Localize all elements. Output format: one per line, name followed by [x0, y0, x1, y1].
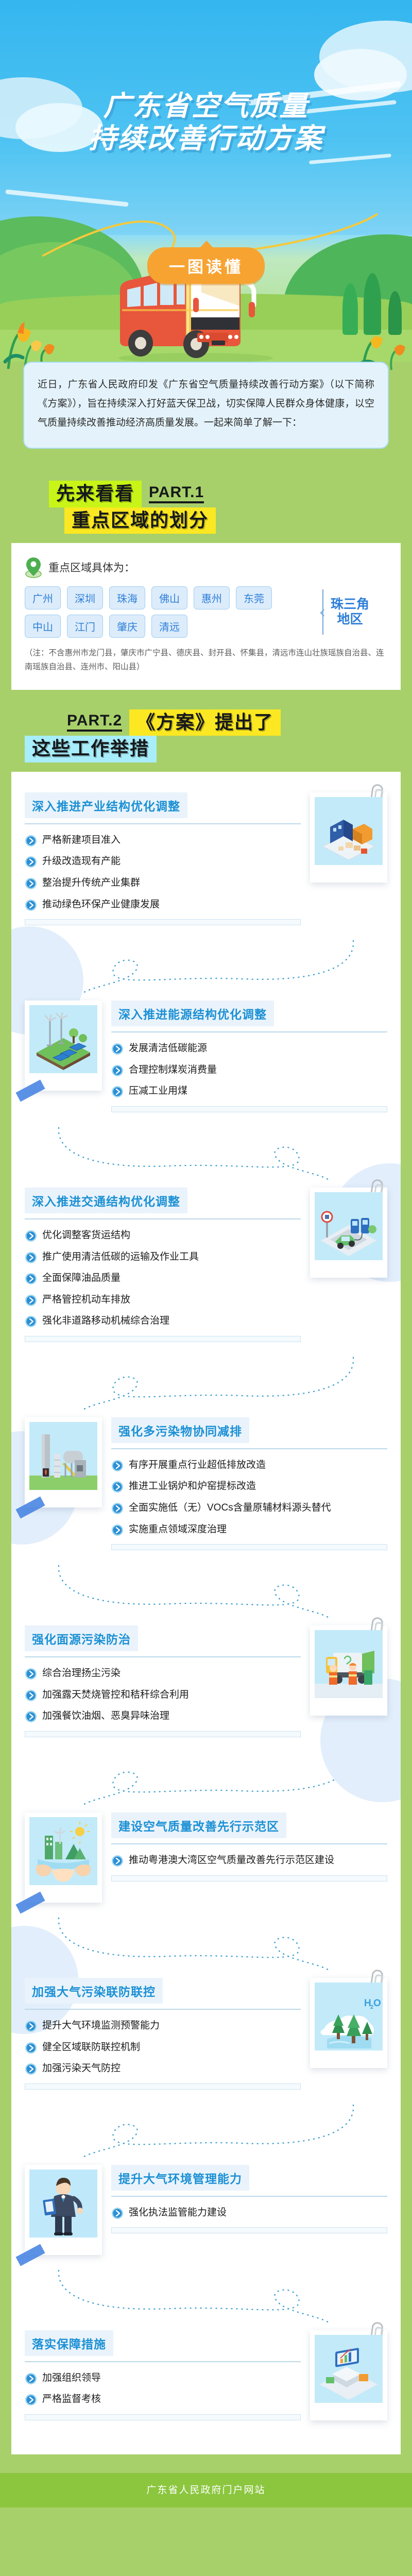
measure-block-photo — [310, 792, 387, 883]
chevron-right-circle-icon — [25, 2042, 37, 2054]
measure-bullet-text: 压减工业用煤 — [129, 1084, 187, 1098]
chevron-right-circle-icon — [111, 1043, 124, 1055]
measure-bullet-text: 强化执法监管能力建设 — [129, 2206, 227, 2220]
measure-bullet: 强化非道路移动机械综合治理 — [25, 1314, 301, 1328]
city-chip-list: 广州深圳珠海佛山惠州东莞中山江门肇庆清远 — [25, 586, 313, 638]
solar-wind-energy-illustration — [29, 1005, 97, 1073]
measure-block-body: 强化多污染物协同减排有序开展重点行业超低排放改造推进工业锅炉和炉窑提标改造全面实… — [111, 1417, 387, 1550]
chevron-right-circle-icon — [25, 2020, 37, 2032]
block-end-bar — [25, 919, 301, 925]
dotted-connector — [46, 1751, 366, 1807]
measure-bullet: 推动粤港澳大湾区空气质量改善先行示范区建设 — [111, 1854, 387, 1868]
part2-heading-row-1: PART.2 《方案》提出了 — [0, 709, 412, 736]
part2-headline-top: 《方案》提出了 — [129, 709, 281, 736]
intro-paragraph: 近日，广东省人民政府印发《广东省空气质量持续改善行动方案》（以下简称《方案》），… — [38, 375, 374, 432]
laptop-growth-chart-illustration — [315, 2335, 383, 2403]
measure-bullet-text: 升级改造现有产能 — [42, 855, 121, 869]
measure-bullet-text: 强化非道路移动机械综合治理 — [42, 1314, 169, 1328]
green-city-in-hands-illustration — [29, 1817, 97, 1885]
city-chip[interactable]: 东莞 — [236, 586, 272, 609]
measure-bullet: 严格监督考核 — [25, 2393, 301, 2406]
chevron-right-circle-icon — [111, 1086, 124, 1098]
city-chip[interactable]: 江门 — [67, 615, 103, 638]
divider — [111, 2196, 387, 2197]
intro-section: 近日，广东省人民政府印发《广东省空气质量持续改善行动方案》（以下简称《方案》），… — [0, 362, 412, 466]
region-name-line1: 珠三角 — [331, 597, 369, 613]
map-pin-icon — [25, 556, 42, 578]
industrial-chimney-illustration — [29, 1422, 97, 1490]
measure-bullet-text: 推动粤港澳大湾区空气质量改善先行示范区建设 — [129, 1854, 334, 1868]
hero-badge: 一图读懂 — [147, 247, 265, 284]
block-end-bar — [25, 1731, 301, 1737]
part1-headline-bottom: 重点区域的划分 — [64, 507, 216, 534]
garbage-truck-workers-illustration — [315, 1630, 383, 1698]
measure-bullet: 严格新建项目准入 — [25, 834, 301, 848]
chevron-right-circle-icon — [25, 2063, 37, 2075]
measure-bullet-text: 加强餐饮油烟、恶臭异味治理 — [42, 1709, 169, 1723]
part1-section: 先来看看 PART.1 重点区域的划分 重点区域具体为： 广州深圳珠海佛山惠州东… — [0, 466, 412, 694]
city-chip[interactable]: 佛山 — [151, 586, 187, 609]
tape-decoration — [15, 1892, 45, 1914]
measure-bullet-text: 推动绿色环保产业健康发展 — [42, 898, 160, 912]
measure-bullet: 发展清洁低碳能源 — [111, 1042, 387, 1056]
measure-bullet-text: 推进工业锅炉和炉窑提标改造 — [129, 1480, 256, 1494]
part1-number: PART.1 — [149, 485, 204, 503]
measure-block-title: 建设空气质量改善先行示范区 — [111, 1812, 286, 1838]
measure-bullet-text: 合理控制煤炭消费量 — [129, 1063, 217, 1077]
block-end-bar — [25, 1336, 301, 1342]
measure-block-title: 加强大气污染联防联控 — [25, 1978, 163, 2004]
measure-bullet: 合理控制煤炭消费量 — [111, 1063, 387, 1077]
measure-block-photo: H2O — [310, 1978, 387, 2068]
hero-title: 广东省空气质量 持续改善行动方案 — [0, 90, 412, 155]
measure-bullet-text: 严格新建项目准入 — [42, 834, 121, 848]
chevron-right-circle-icon — [25, 2372, 37, 2385]
measure-block-title: 深入推进交通结构优化调整 — [25, 1188, 187, 1213]
measure-bullet: 加强污染天气防控 — [25, 2062, 301, 2076]
measure-block-body: 提升大气环境管理能力强化执法监管能力建设 — [111, 2165, 387, 2234]
divider — [111, 1448, 387, 1449]
measure-bullet-text: 严格管控机动车排放 — [42, 1293, 130, 1307]
measure-block: 深入推进交通结构优化调整优化调整客货运结构推广使用清洁低碳的运输及作业工具全面保… — [25, 1182, 387, 1355]
chevron-right-circle-icon — [25, 877, 37, 890]
footer-source: 广东省人民政府门户网站 — [146, 2485, 265, 2496]
chevron-right-circle-icon — [25, 1230, 37, 1242]
measure-bullet: 强化执法监管能力建设 — [111, 2206, 387, 2220]
measure-bullet: 全面实施低（无）VOCs含量原辅材料源头替代 — [111, 1501, 387, 1515]
tape-decoration — [15, 2244, 45, 2266]
measure-bullet: 有序开展重点行业超低排放改造 — [111, 1459, 387, 1472]
measure-bullet-text: 优化调整客货运结构 — [42, 1229, 130, 1243]
region-note: （注：不含惠州市龙门县，肇庆市广宁县、德庆县、封开县、怀集县，清远市连山壮族瑶族… — [25, 646, 387, 674]
measure-block: 提升大气环境管理能力强化执法监管能力建设 — [25, 2160, 387, 2268]
measure-block-body: 建设空气质量改善先行示范区推动粤港澳大湾区空气质量改善先行示范区建设 — [111, 1812, 387, 1882]
city-chip[interactable]: 肇庆 — [109, 615, 145, 638]
divider — [25, 1218, 301, 1219]
measure-bullet: 整治提升传统产业集群 — [25, 876, 301, 890]
measure-bullet-text: 加强污染天气防控 — [42, 2062, 121, 2076]
part2-headline-bottom: 这些工作举措 — [25, 736, 157, 762]
measure-bullet: 优化调整客货运结构 — [25, 1229, 301, 1243]
measure-bullet: 推进工业锅炉和炉窑提标改造 — [111, 1480, 387, 1494]
ev-charging-station-illustration — [315, 1192, 383, 1260]
measure-block-body: 深入推进交通结构优化调整优化调整客货运结构推广使用清洁低碳的运输及作业工具全面保… — [25, 1188, 301, 1342]
region-panel-header: 重点区域具体为： — [25, 556, 387, 578]
block-end-bar — [111, 2227, 387, 2233]
dotted-connector — [46, 1916, 366, 1973]
measure-block-photo — [310, 1188, 387, 1278]
measure-bullet: 加强组织领导 — [25, 2371, 301, 2385]
region-name-line2: 地区 — [331, 612, 369, 628]
measure-bullet-text: 全面保障油品质量 — [42, 1272, 121, 1285]
svg-text:O: O — [373, 1998, 381, 2009]
region-panel: 重点区域具体为： 广州深圳珠海佛山惠州东莞中山江门肇庆清远 珠三角 地区 （注：… — [11, 543, 401, 689]
measure-block-photo — [25, 1812, 102, 1903]
measure-block-photo — [310, 1625, 387, 1716]
measure-bullet: 严格管控机动车排放 — [25, 1293, 301, 1307]
divider — [111, 1031, 387, 1032]
region-panel-label: 重点区域具体为： — [48, 560, 135, 575]
dotted-connector — [46, 1564, 366, 1620]
part1-heading-row-1: 先来看看 PART.1 — [0, 481, 412, 507]
region-name: 珠三角 地区 — [331, 597, 369, 628]
divider — [25, 823, 301, 824]
chevron-right-circle-icon — [111, 1502, 124, 1515]
divider — [25, 2009, 301, 2010]
region-brace — [322, 589, 323, 635]
chevron-right-circle-icon — [111, 1481, 124, 1493]
chevron-right-circle-icon — [111, 1064, 124, 1077]
part2-heading-row-2: 这些工作举措 — [0, 736, 412, 762]
measure-block: 落实保障措施加强组织领导严格监督考核 — [25, 2325, 387, 2434]
dotted-connector — [46, 1355, 366, 1412]
block-end-bar — [111, 1106, 387, 1112]
chevron-right-circle-icon — [25, 1294, 37, 1307]
measure-block-title: 强化面源污染防治 — [25, 1625, 138, 1651]
forest-water-h2o-illustration: H2O — [315, 1982, 383, 2050]
measure-bullet-text: 有序开展重点行业超低排放改造 — [129, 1459, 266, 1472]
measure-block-body: 落实保障措施加强组织领导严格监督考核 — [25, 2330, 301, 2420]
measure-block: 建设空气质量改善先行示范区推动粤港澳大湾区空气质量改善先行示范区建设 — [25, 1807, 387, 1916]
part1-heading-row-2: 重点区域的划分 — [0, 507, 412, 534]
tape-decoration — [15, 1080, 45, 1102]
measure-block-title: 强化多污染物协同减排 — [111, 1417, 249, 1443]
measure-bullet-text: 发展清洁低碳能源 — [129, 1042, 207, 1056]
measure-block-body: 强化面源污染防治综合治理扬尘污染加强露天焚烧管控和秸秆综合利用加强餐饮油烟、恶臭… — [25, 1625, 301, 1737]
chevron-right-circle-icon — [25, 2394, 37, 2406]
measure-bullet: 推动绿色环保产业健康发展 — [25, 898, 301, 912]
measure-block-title: 深入推进产业结构优化调整 — [25, 792, 187, 818]
measure-bullet-text: 推广使用清洁低碳的运输及作业工具 — [42, 1250, 199, 1264]
hero-banner: 广东省空气质量 持续改善行动方案 一图读懂 — [0, 0, 412, 392]
measure-bullet: 升级改造现有产能 — [25, 855, 301, 869]
chevron-right-circle-icon — [25, 835, 37, 847]
city-chip[interactable]: 清远 — [151, 615, 187, 638]
measure-bullet: 健全区域联防联控机制 — [25, 2041, 301, 2055]
measure-block-photo — [25, 2165, 102, 2255]
measure-bullet-text: 实施重点领域深度治理 — [129, 1523, 227, 1537]
intro-card: 近日，广东省人民政府印发《广东省空气质量持续改善行动方案》（以下简称《方案》），… — [23, 362, 389, 449]
part1-headline-top: 先来看看 — [49, 481, 142, 507]
measure-bullet-text: 综合治理扬尘污染 — [42, 1667, 121, 1681]
chevron-right-circle-icon — [25, 1251, 37, 1264]
measure-bullet-text: 健全区域联防联控机制 — [42, 2041, 140, 2055]
dotted-connector — [46, 2103, 366, 2160]
chevron-right-circle-icon — [111, 1524, 124, 1536]
measure-block-title: 提升大气环境管理能力 — [111, 2165, 249, 2191]
measure-bullet: 提升大气环境监测预警能力 — [25, 2019, 301, 2033]
chevron-right-circle-icon — [111, 2207, 124, 2219]
measure-bullet: 全面保障油品质量 — [25, 1272, 301, 1285]
measure-bullet-text: 整治提升传统产业集群 — [42, 876, 140, 890]
region-grid: 广州深圳珠海佛山惠州东莞中山江门肇庆清远 珠三角 地区 — [25, 586, 387, 638]
measure-block-photo — [310, 2330, 387, 2420]
measure-block: 深入推进能源结构优化调整发展清洁低碳能源合理控制煤炭消费量压减工业用煤 — [25, 995, 387, 1126]
block-end-bar — [111, 1544, 387, 1550]
measure-block-body: 加强大气污染联防联控提升大气环境监测预警能力健全区域联防联控机制加强污染天气防控 — [25, 1978, 301, 2090]
measure-bullet-text: 全面实施低（无）VOCs含量原辅材料源头替代 — [129, 1501, 331, 1515]
measure-block-title: 落实保障措施 — [25, 2330, 113, 2356]
measure-bullet-text: 加强露天焚烧管控和秸秆综合利用 — [42, 1688, 189, 1702]
city-chip[interactable]: 中山 — [25, 615, 61, 638]
measure-bullet: 加强露天焚烧管控和秸秆综合利用 — [25, 1688, 301, 1702]
measure-bullet-text: 严格监督考核 — [42, 2393, 101, 2406]
dotted-connector — [46, 2268, 366, 2325]
measure-bullet-text: 提升大气环境监测预警能力 — [42, 2019, 160, 2033]
chevron-right-circle-icon — [25, 856, 37, 868]
city-chip[interactable]: 珠海 — [109, 586, 145, 609]
measure-block: 强化多污染物协同减排有序开展重点行业超低排放改造推进工业锅炉和炉窑提标改造全面实… — [25, 1412, 387, 1564]
measure-block: 强化面源污染防治综合治理扬尘污染加强露天焚烧管控和秸秆综合利用加强餐饮油烟、恶臭… — [25, 1620, 387, 1751]
measure-bullet: 综合治理扬尘污染 — [25, 1667, 301, 1681]
measure-block-photo — [25, 1417, 102, 1507]
dotted-connector — [46, 939, 366, 995]
divider — [25, 1656, 301, 1657]
divider — [111, 1843, 387, 1844]
chevron-right-circle-icon — [25, 1668, 37, 1680]
city-chip[interactable]: 惠州 — [194, 586, 230, 609]
measure-bullet: 推广使用清洁低碳的运输及作业工具 — [25, 1250, 301, 1264]
dotted-connector — [46, 1126, 366, 1182]
measure-block-body: 深入推进能源结构优化调整发展清洁低碳能源合理控制煤炭消费量压减工业用煤 — [111, 1001, 387, 1112]
factory-logistics-illustration — [315, 797, 383, 865]
chevron-right-circle-icon — [25, 1273, 37, 1285]
measure-block: 深入推进产业结构优化调整严格新建项目准入升级改造现有产能整治提升传统产业集群推动… — [25, 787, 387, 939]
infographic-page: 广东省空气质量 持续改善行动方案 一图读懂 — [0, 0, 412, 2507]
measure-bullet: 实施重点领域深度治理 — [111, 1523, 387, 1537]
chevron-right-circle-icon — [25, 1689, 37, 1702]
chevron-right-circle-icon — [111, 1855, 124, 1867]
chevron-right-circle-icon — [25, 899, 37, 911]
divider — [25, 2361, 301, 2362]
part2-section: PART.2 《方案》提出了 这些工作举措 深入推进产业结构优化调整严格新建项目… — [0, 695, 412, 2460]
block-end-bar — [25, 2083, 301, 2090]
hero-title-line2: 持续改善行动方案 — [0, 123, 412, 155]
chevron-right-circle-icon — [111, 1460, 124, 1472]
city-chip[interactable]: 深圳 — [67, 586, 103, 609]
block-end-bar — [25, 2414, 301, 2420]
measure-bullet: 压减工业用煤 — [111, 1084, 387, 1098]
measure-block-list: 深入推进产业结构优化调整严格新建项目准入升级改造现有产能整治提升传统产业集群推动… — [11, 772, 401, 2454]
chevron-right-circle-icon — [25, 1315, 37, 1328]
page-footer: 广东省人民政府门户网站 — [0, 2473, 412, 2507]
measure-bullet: 加强餐饮油烟、恶臭异味治理 — [25, 1709, 301, 1723]
measure-block: 加强大气污染联防联控提升大气环境监测预警能力健全区域联防联控机制加强污染天气防控… — [25, 1973, 387, 2103]
tulip-flowers-decoration — [2, 308, 59, 370]
measure-block-photo — [25, 1001, 102, 1091]
hero-title-line1: 广东省空气质量 — [104, 90, 309, 122]
chevron-right-circle-icon — [25, 1710, 37, 1723]
city-chip[interactable]: 广州 — [25, 586, 61, 609]
measure-block-title: 深入推进能源结构优化调整 — [111, 1001, 274, 1026]
block-end-bar — [111, 1875, 387, 1882]
part2-number: PART.2 — [67, 713, 122, 732]
measure-block-body: 深入推进产业结构优化调整严格新建项目准入升级改造现有产能整治提升传统产业集群推动… — [25, 792, 301, 925]
official-with-clipboard-illustration — [29, 2170, 97, 2238]
measure-bullet-text: 加强组织领导 — [42, 2371, 101, 2385]
